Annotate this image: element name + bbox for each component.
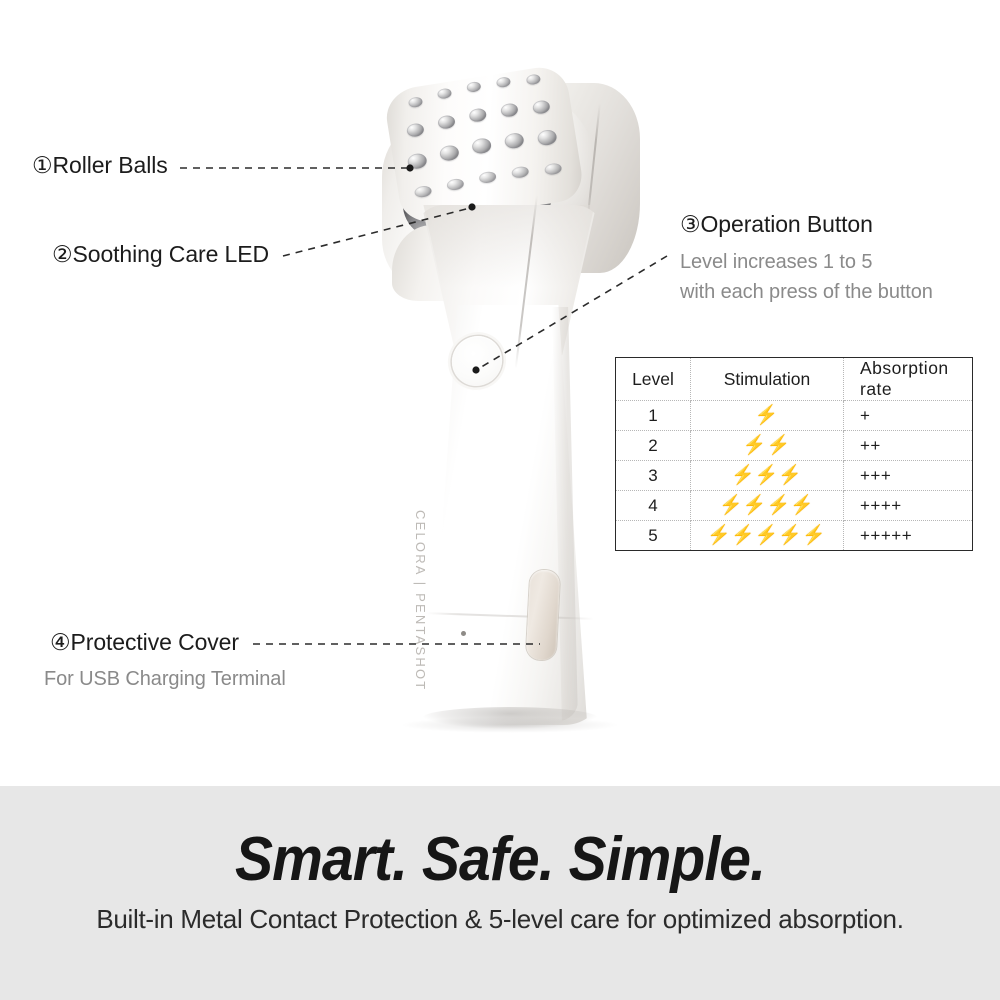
stimulation-level-table: Level Stimulation Absorption rate 1⚡+2⚡⚡… bbox=[615, 357, 973, 551]
cell-absorption-rate: + bbox=[844, 401, 973, 431]
callout-sub-operation-button: Level increases 1 to 5 with each press o… bbox=[680, 247, 933, 307]
lightning-bolt-icon: ⚡ bbox=[707, 526, 732, 545]
roller-ball-rows bbox=[382, 63, 585, 226]
lightning-bolt-icon: ⚡ bbox=[719, 496, 744, 515]
cell-level: 4 bbox=[616, 491, 691, 521]
table-header-row: Level Stimulation Absorption rate bbox=[616, 358, 973, 401]
lightning-bolt-icon: ⚡ bbox=[755, 406, 780, 425]
operation-button-sub-line-1: Level increases 1 to 5 bbox=[680, 247, 933, 277]
cell-level: 2 bbox=[616, 431, 691, 461]
callout-label-roller-balls: ①Roller Balls bbox=[32, 152, 168, 179]
callout-sub-protective-cover: For USB Charging Terminal bbox=[44, 664, 286, 694]
brand-logo-text: CELORA | PENTASHOT bbox=[413, 510, 428, 691]
cell-stimulation: ⚡⚡ bbox=[691, 431, 844, 461]
lightning-bolt-icon: ⚡ bbox=[755, 526, 780, 545]
lightning-bolt-icon: ⚡ bbox=[802, 526, 827, 545]
cell-absorption-rate: +++ bbox=[844, 461, 973, 491]
lightning-bolt-icon: ⚡ bbox=[778, 466, 803, 485]
lightning-bolt-icon: ⚡ bbox=[778, 526, 803, 545]
roller-drum bbox=[382, 63, 585, 226]
banner-subtitle: Built-in Metal Contact Protection & 5-le… bbox=[0, 904, 1000, 935]
cell-level: 3 bbox=[616, 461, 691, 491]
lightning-bolt-icon: ⚡ bbox=[731, 466, 756, 485]
operation-button-sub-line-2: with each press of the button bbox=[680, 277, 933, 307]
product-infographic: CELORA | PENTASHOT ①Roller Balls ②Soothi… bbox=[0, 0, 1000, 1000]
cell-absorption-rate: ++++ bbox=[844, 491, 973, 521]
lightning-bolt-icons: ⚡⚡⚡ bbox=[731, 466, 802, 485]
table-row: 2⚡⚡++ bbox=[616, 431, 973, 461]
lightning-bolt-icon: ⚡ bbox=[767, 436, 792, 455]
product-device-illustration: CELORA | PENTASHOT bbox=[330, 55, 650, 735]
table-row: 1⚡+ bbox=[616, 401, 973, 431]
table-header-stimulation: Stimulation bbox=[691, 358, 844, 401]
callout-label-soothing-care-led: ②Soothing Care LED bbox=[52, 241, 269, 268]
lightning-bolt-icons: ⚡⚡⚡⚡ bbox=[720, 496, 815, 515]
table-row: 5⚡⚡⚡⚡⚡+++++ bbox=[616, 521, 973, 551]
lightning-bolt-icon: ⚡ bbox=[767, 496, 792, 515]
cell-stimulation: ⚡⚡⚡⚡ bbox=[691, 491, 844, 521]
lightning-bolt-icon: ⚡ bbox=[755, 466, 780, 485]
lightning-bolt-icons: ⚡⚡⚡⚡⚡ bbox=[708, 526, 826, 545]
cell-stimulation: ⚡⚡⚡ bbox=[691, 461, 844, 491]
cell-absorption-rate: +++++ bbox=[844, 521, 973, 551]
usb-charging-pinhole bbox=[461, 631, 466, 636]
lightning-bolt-icon: ⚡ bbox=[743, 496, 768, 515]
ground-shadow bbox=[400, 717, 620, 733]
cell-stimulation: ⚡ bbox=[691, 401, 844, 431]
lightning-bolt-icon: ⚡ bbox=[743, 436, 768, 455]
table-row: 3⚡⚡⚡+++ bbox=[616, 461, 973, 491]
table-header-level: Level bbox=[616, 358, 691, 401]
cell-level: 5 bbox=[616, 521, 691, 551]
lightning-bolt-icon: ⚡ bbox=[790, 496, 815, 515]
protective-cover[interactable] bbox=[526, 569, 561, 660]
callout-label-operation-button: ③Operation Button bbox=[680, 211, 873, 238]
cell-level: 1 bbox=[616, 401, 691, 431]
table-body: 1⚡+2⚡⚡++3⚡⚡⚡+++4⚡⚡⚡⚡++++5⚡⚡⚡⚡⚡+++++ bbox=[616, 401, 973, 551]
cell-stimulation: ⚡⚡⚡⚡⚡ bbox=[691, 521, 844, 551]
lightning-bolt-icons: ⚡ bbox=[755, 406, 779, 425]
table-row: 4⚡⚡⚡⚡++++ bbox=[616, 491, 973, 521]
bottom-banner: Smart. Safe. Simple. Built-in Metal Cont… bbox=[0, 786, 1000, 1000]
callout-label-protective-cover: ④Protective Cover bbox=[50, 629, 239, 656]
cell-absorption-rate: ++ bbox=[844, 431, 973, 461]
lightning-bolt-icon: ⚡ bbox=[731, 526, 756, 545]
banner-tagline: Smart. Safe. Simple. bbox=[40, 824, 960, 895]
lightning-bolt-icons: ⚡⚡ bbox=[743, 436, 790, 455]
table-header-absorption-rate: Absorption rate bbox=[844, 358, 973, 401]
